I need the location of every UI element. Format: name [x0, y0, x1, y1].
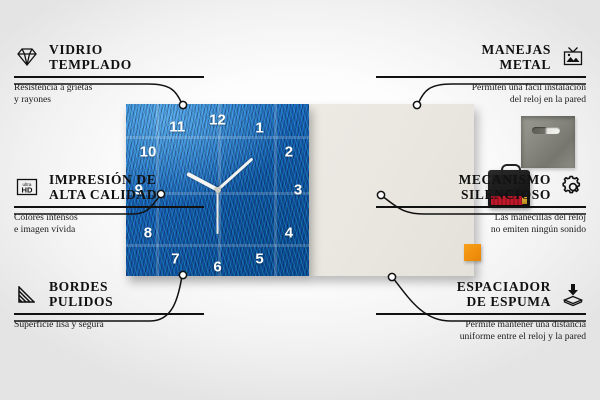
callout-title-line2: METAL — [499, 57, 551, 72]
callout-desc: Permiten una fácil instalación del reloj… — [376, 82, 586, 108]
clock-numeral: 3 — [294, 183, 302, 198]
callout-rule — [14, 313, 204, 314]
callout-title-line2: TEMPLADO — [49, 57, 132, 72]
callout-title: IMPRESIÓN DE ALTA CALIDAD — [49, 172, 157, 202]
callout-rule — [14, 206, 204, 207]
metal-hanger-plate — [521, 116, 575, 168]
callout-title: BORDES PULIDOS — [49, 279, 113, 309]
callout-rule — [14, 76, 204, 77]
callout-espaciador-espuma: ESPACIADOR DE ESPUMA Permite mantener un… — [376, 279, 586, 344]
callout-impresion-alta-calidad: ultra HD IMPRESIÓN DE ALTA CALIDAD Color… — [14, 172, 224, 237]
callout-desc-line1: Permite mantener una distancia — [465, 319, 586, 330]
hanger-keyhole-slot — [532, 127, 560, 134]
ultra-hd-icon: ultra HD — [14, 174, 40, 200]
callout-head: BORDES PULIDOS — [14, 279, 224, 309]
clock-numeral: 6 — [213, 260, 221, 275]
callout-rule — [376, 76, 586, 77]
callout-head: ESPACIADOR DE ESPUMA — [376, 279, 586, 309]
callout-title-line2: SILENCIOSO — [461, 187, 551, 202]
callout-title: MANEJAS METAL — [482, 42, 551, 72]
clock-numeral: 10 — [140, 145, 157, 160]
callout-desc: Superficie lisa y segura — [14, 319, 224, 332]
clock-numeral: 4 — [285, 226, 293, 241]
clock-numeral: 2 — [285, 145, 293, 160]
callout-title-line2: ALTA CALIDAD — [49, 187, 157, 202]
callout-vidrio-templado: VIDRIO TEMPLADO Resistencia a grietas y … — [14, 42, 224, 107]
callout-rule — [376, 206, 586, 207]
clock-numeral: 7 — [171, 251, 179, 266]
callout-title-line1: IMPRESIÓN DE — [49, 172, 156, 187]
callout-desc-line2: y rayones — [14, 94, 51, 105]
callout-head: VIDRIO TEMPLADO — [14, 42, 224, 72]
callout-desc: Las manecillas del reloj no emiten ningú… — [376, 212, 586, 238]
callout-rule — [376, 313, 586, 314]
polished-edges-icon — [14, 281, 40, 307]
callout-desc-line2: e imagen vívida — [14, 224, 75, 235]
callout-desc-line2: uniforme entre el reloj y la pared — [460, 331, 586, 342]
callout-desc: Colores intensos e imagen vívida — [14, 212, 224, 238]
callout-title-line2: PULIDOS — [49, 294, 113, 309]
wall-frame-icon — [560, 44, 586, 70]
clock-numeral: 12 — [209, 113, 226, 128]
foam-spacer-icon — [560, 281, 586, 307]
callout-title: VIDRIO TEMPLADO — [49, 42, 132, 72]
callout-desc-line1: Colores intensos — [14, 212, 78, 223]
callout-desc-line1: Las manecillas del reloj — [495, 212, 586, 223]
callout-title-line1: ESPACIADOR — [457, 279, 551, 294]
callout-title-line1: MECANISMO — [459, 172, 551, 187]
callout-title-line1: MANEJAS — [482, 42, 551, 57]
callout-title-line2: DE ESPUMA — [466, 294, 551, 309]
svg-text:HD: HD — [22, 186, 33, 195]
gear-icon — [560, 174, 586, 200]
callout-title: ESPACIADOR DE ESPUMA — [457, 279, 551, 309]
callout-desc-line2: del reloj en la pared — [510, 94, 586, 105]
clock-numeral: 11 — [169, 120, 185, 135]
clock-numeral: 5 — [255, 251, 263, 266]
callout-desc: Resistencia a grietas y rayones — [14, 82, 224, 108]
callout-head: ultra HD IMPRESIÓN DE ALTA CALIDAD — [14, 172, 224, 202]
callout-title-line1: BORDES — [49, 279, 108, 294]
callout-manejas-metal: MANEJAS METAL Permiten una fácil instala… — [376, 42, 586, 107]
diamond-icon — [14, 44, 40, 70]
callout-title-line1: VIDRIO — [49, 42, 103, 57]
callout-desc: Permite mantener una distancia uniforme … — [376, 319, 586, 345]
callout-desc-line1: Resistencia a grietas — [14, 82, 92, 93]
callout-head: MANEJAS METAL — [376, 42, 586, 72]
callout-head: MECANISMO SILENCIOSO — [376, 172, 586, 202]
foam-spacer — [464, 244, 481, 261]
callout-desc-line1: Superficie lisa y segura — [14, 319, 104, 330]
callout-title: MECANISMO SILENCIOSO — [459, 172, 551, 202]
callout-mecanismo-silencioso: MECANISMO SILENCIOSO Las manecillas del … — [376, 172, 586, 237]
clock-numeral: 1 — [255, 121, 263, 136]
callout-desc-line1: Permiten una fácil instalación — [472, 82, 586, 93]
callout-bordes-pulidos: BORDES PULIDOS Superficie lisa y segura — [14, 279, 224, 331]
infographic-stage: 12 1 2 3 4 5 6 7 8 9 10 11 — [0, 0, 600, 400]
callout-desc-line2: no emiten ningún sonido — [491, 224, 586, 235]
